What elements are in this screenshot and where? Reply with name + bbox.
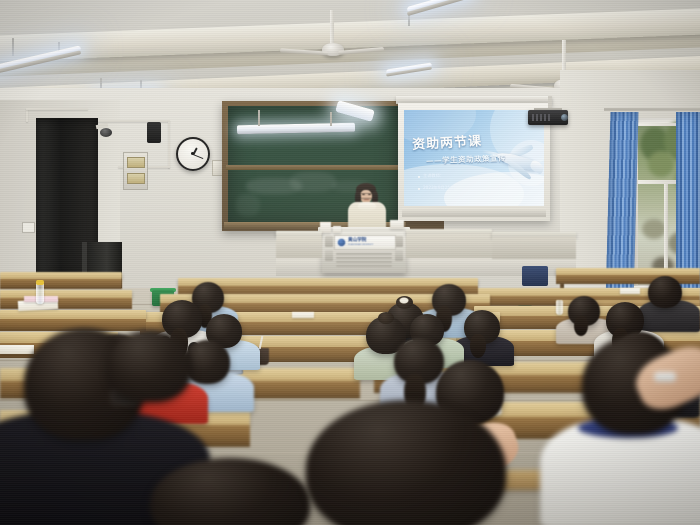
notebook (0, 345, 34, 354)
fan-pole (330, 10, 334, 46)
water-bottle (556, 300, 563, 315)
desk-box (333, 226, 341, 233)
papers (620, 288, 640, 294)
slide-content: 资助两节课 ——学生资助政策宣传 主讲教师： 2023年9月25日 (404, 110, 544, 206)
security-camera-icon (100, 128, 112, 137)
desk-box (390, 220, 404, 229)
papers (292, 312, 314, 318)
slide-title: 资助两节课 (412, 130, 483, 153)
water-bottle (36, 282, 44, 304)
lectern[interactable]: 黄山学院 HUANGSHAN UNIVERSITY (322, 231, 406, 273)
curtain-rod (604, 108, 700, 111)
presenter-collar (358, 202, 376, 211)
classroom-photo: 资助两节课 ——学生资助政策宣传 主讲教师： 2023年9月25日 (0, 0, 700, 525)
lectern-sign: 黄山学院 HUANGSHAN UNIVERSITY (334, 235, 396, 250)
slide-bullet: 2023年9月25日 (423, 185, 454, 191)
doorway[interactable] (36, 118, 98, 278)
slide-bullet: 主讲教师： (423, 173, 444, 179)
wall-speaker (147, 122, 161, 143)
projector-lens (561, 114, 568, 121)
university-name-en: HUANGSHAN UNIVERSITY (348, 244, 374, 246)
electrical-panel (123, 152, 148, 190)
blackboard-rail (226, 165, 404, 170)
screen-bottom-bar (402, 208, 546, 217)
light-switch[interactable] (22, 222, 35, 233)
bottle-cap (36, 280, 44, 285)
slide-subtitle: ——学生资助政策宣传 (426, 153, 506, 167)
university-emblem-icon (337, 238, 346, 247)
wall-clock (176, 137, 210, 171)
blue-chair[interactable] (522, 266, 548, 286)
